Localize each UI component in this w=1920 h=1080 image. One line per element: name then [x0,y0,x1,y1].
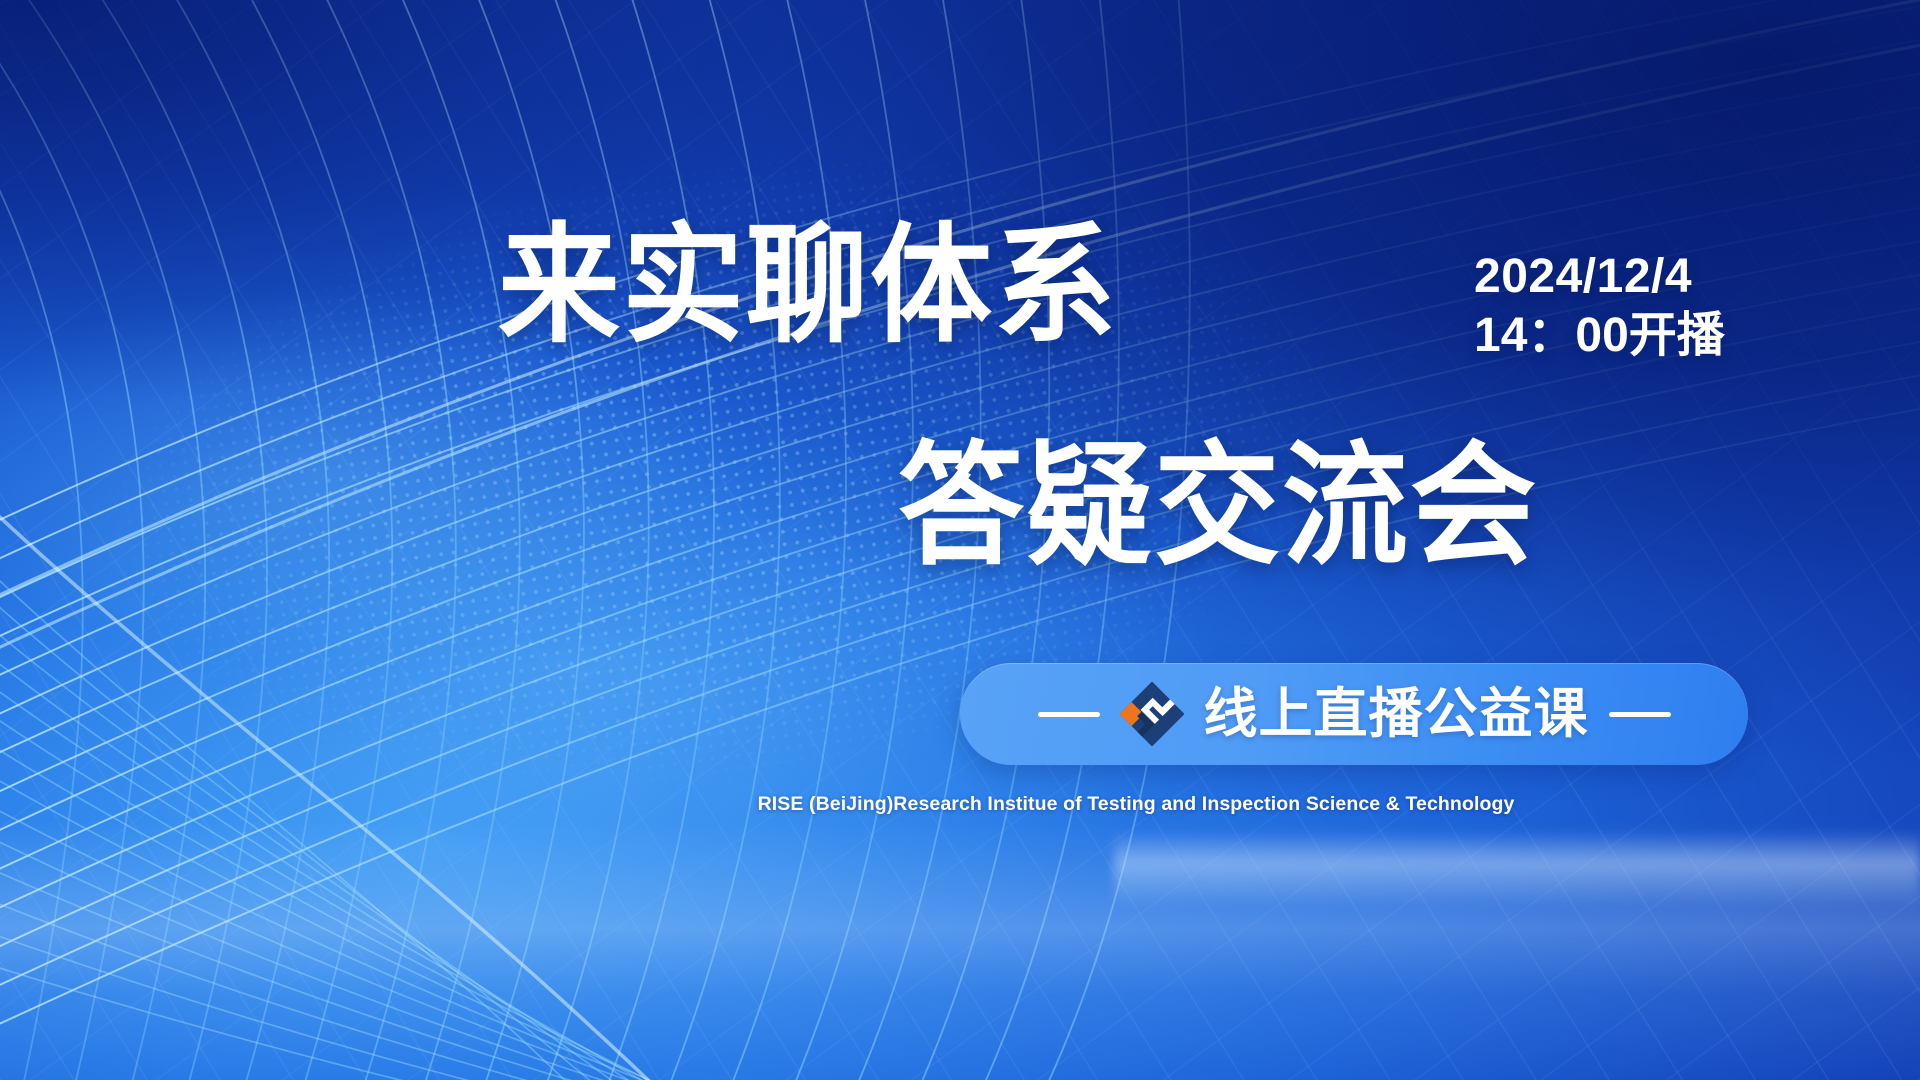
badge-rule-left [1038,712,1100,717]
english-subtitle: RISE (BeiJing)Research Institue of Testi… [758,793,1515,816]
headline-row-2: 答疑交流会 [898,450,1538,570]
banner-content: 来实聊体系 2024/12/4 14：00开播 答疑交流会 [0,0,1920,1080]
english-subtitle-row: RISE (BeiJing)Research Institue of Testi… [0,793,1920,816]
title-block: 来实聊体系 2024/12/4 14：00开播 答疑交流会 [0,0,1920,1080]
badge-rule-right [1609,712,1671,717]
headline-line-1: 来实聊体系 [498,225,1118,348]
headline-row: 来实聊体系 [498,232,1118,348]
live-course-badge: 线上直播公益课 [960,663,1748,765]
badge-label: 线上直播公益课 [1204,687,1589,741]
headline-line-2: 答疑交流会 [898,443,1538,570]
event-date: 2024/12/4 [1474,248,1725,307]
promo-banner: 来实聊体系 2024/12/4 14：00开播 答疑交流会 [0,0,1920,1080]
event-datetime: 2024/12/4 14：00开播 [1474,248,1725,365]
event-time: 14：00开播 [1474,307,1725,366]
rise-diamond-logo-icon [1120,682,1184,746]
